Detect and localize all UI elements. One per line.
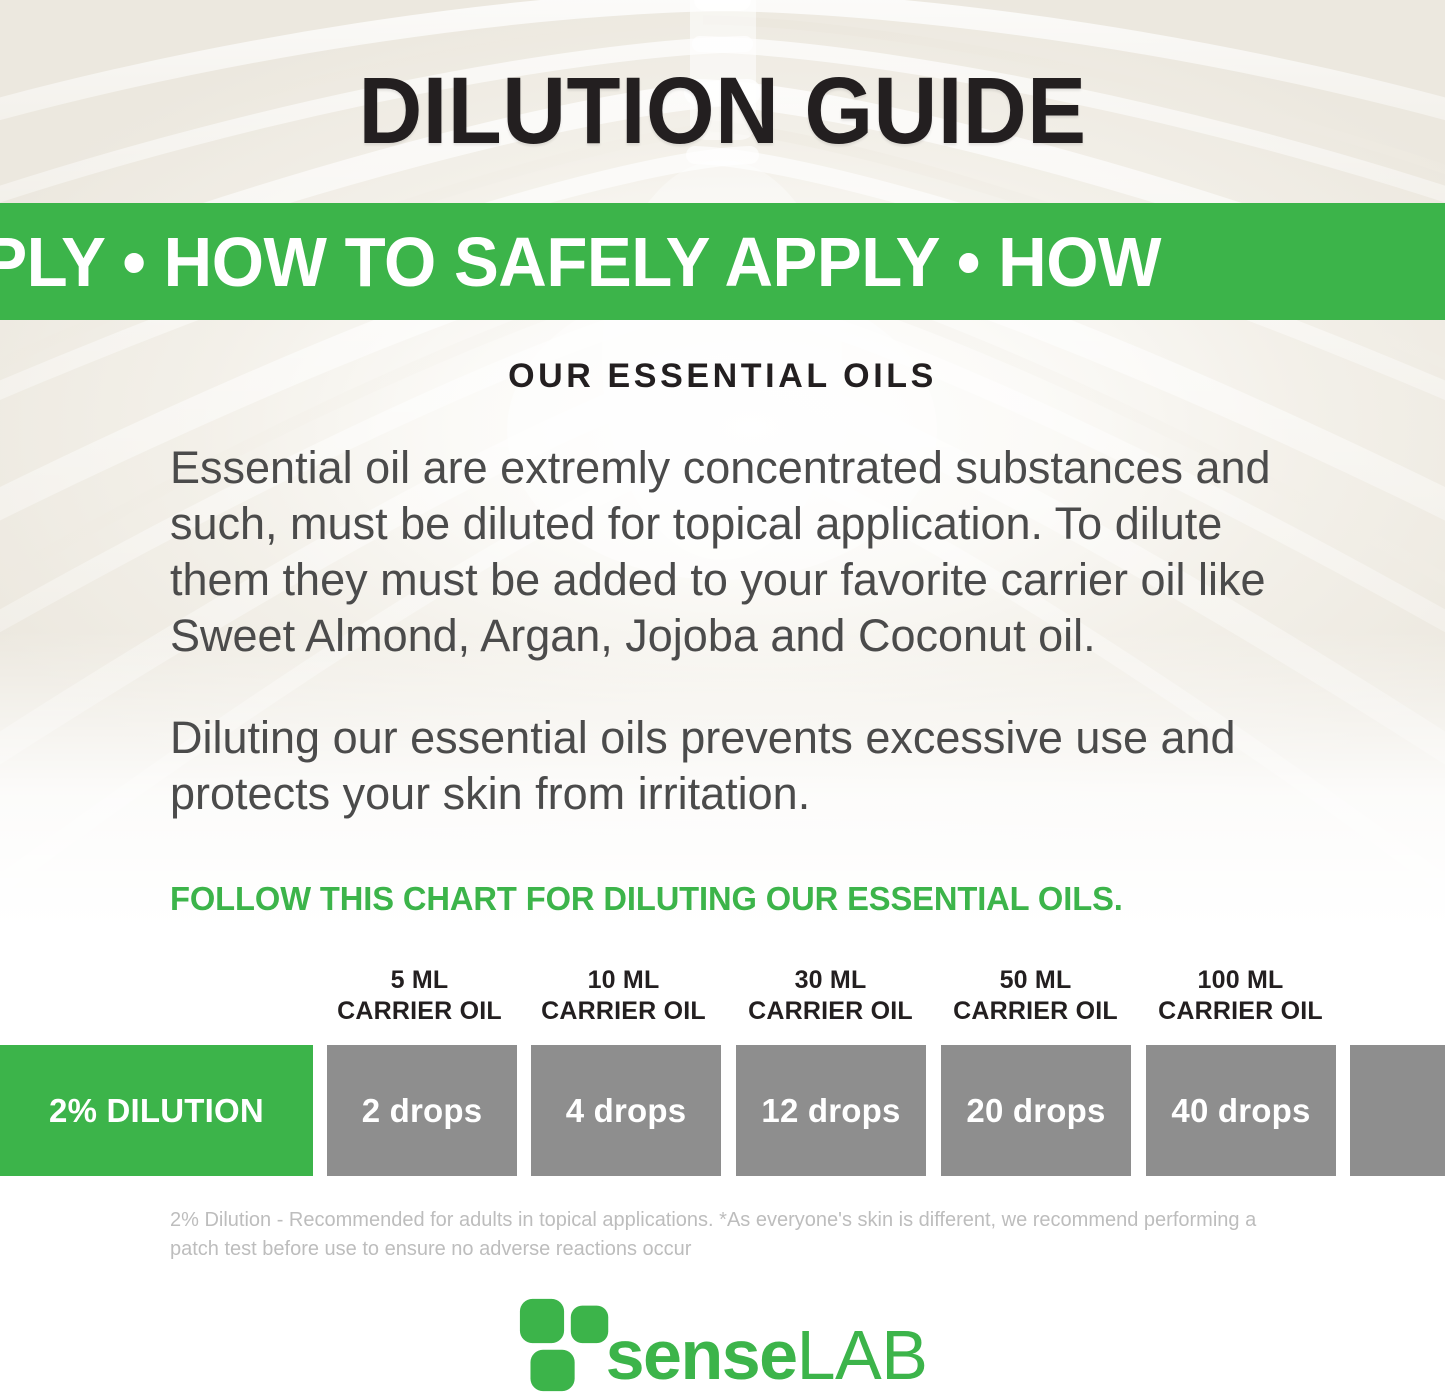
page-title: DILUTION GUIDE xyxy=(51,58,1395,164)
row-label-2-percent-dilution: 2% DILUTION xyxy=(0,1045,313,1176)
dilution-table-header-row: 5 ML CARRIER OIL 10 ML CARRIER OIL 30 ML… xyxy=(0,955,1445,1040)
column-header-amount: 5 ML xyxy=(327,965,512,996)
dilution-table: 5 ML CARRIER OIL 10 ML CARRIER OIL 30 ML… xyxy=(0,955,1445,1185)
marquee-banner-text: PPLY • HOW TO SAFELY APPLY • HOW xyxy=(0,227,1161,297)
paragraph-2: Diluting our essential oils prevents exc… xyxy=(170,710,1290,822)
column-header-unit: CARRIER OIL xyxy=(943,996,1128,1027)
column-header-unit: CARRIER OIL xyxy=(738,996,923,1027)
cell-100ml-drops: 40 drops xyxy=(1146,1045,1336,1176)
cell-30ml-drops: 12 drops xyxy=(736,1045,926,1176)
cell-5ml-drops: 2 drops xyxy=(327,1045,517,1176)
column-header-5ml: 5 ML CARRIER OIL xyxy=(327,965,512,1027)
column-header-amount: 30 ML xyxy=(738,965,923,996)
dilution-guide-infographic: DILUTION GUIDE PPLY • HOW TO SAFELY APPL… xyxy=(0,0,1445,1395)
column-header-100ml: 100 ML CARRIER OIL xyxy=(1148,965,1333,1027)
column-header-unit: CARRIER OIL xyxy=(1148,996,1333,1027)
column-header-amount: 100 ML xyxy=(1148,965,1333,996)
paragraph-1: Essential oil are extremly concentrated … xyxy=(170,440,1290,664)
brand-logo: senseLAB xyxy=(0,1295,1445,1395)
marquee-banner: PPLY • HOW TO SAFELY APPLY • HOW xyxy=(0,203,1445,320)
logo-word-sense: sense xyxy=(606,1316,797,1394)
column-header-10ml: 10 ML CARRIER OIL xyxy=(531,965,716,1027)
column-header-30ml: 30 ML CARRIER OIL xyxy=(738,965,923,1027)
column-header-unit: CARRIER OIL xyxy=(327,996,512,1027)
dilution-table-row-2-percent: 2% DILUTION 2 drops 4 drops 12 drops 20 … xyxy=(0,1045,1445,1176)
body-copy: Essential oil are extremly concentrated … xyxy=(170,440,1290,822)
column-header-amount: 50 ML xyxy=(943,965,1128,996)
column-header-50ml: 50 ML CARRIER OIL xyxy=(943,965,1128,1027)
cell-10ml-drops: 4 drops xyxy=(531,1045,721,1176)
logo-wordmark: senseLAB xyxy=(606,1320,928,1390)
column-header-amount: 10 ML xyxy=(531,965,716,996)
logo-word-lab: LAB xyxy=(797,1316,928,1394)
four-leaf-icon xyxy=(518,1297,614,1393)
chart-callout-heading: FOLLOW THIS CHART FOR DILUTING OUR ESSEN… xyxy=(170,880,1123,918)
cell-50ml-drops: 20 drops xyxy=(941,1045,1131,1176)
column-header-unit: CARRIER OIL xyxy=(531,996,716,1027)
cell-overflow-clipped xyxy=(1350,1045,1445,1176)
section-heading: OUR ESSENTIAL OILS xyxy=(0,357,1445,396)
footnote-text: 2% Dilution - Recommended for adults in … xyxy=(170,1206,1290,1264)
